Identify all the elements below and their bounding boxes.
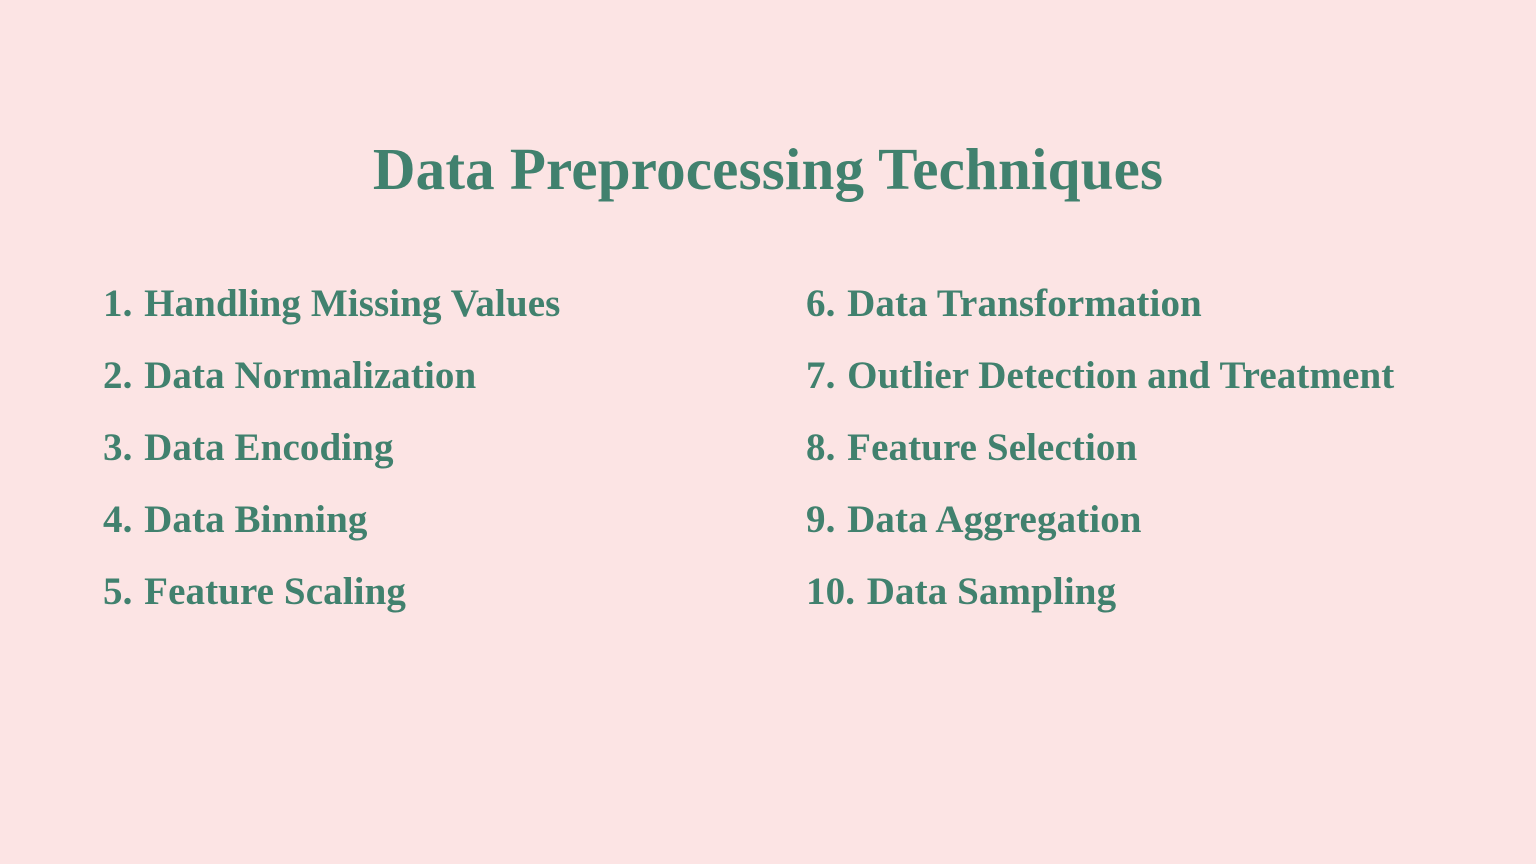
list-item-number: 9. <box>806 498 835 541</box>
technique-list: 1.Handling Missing Values 2.Data Normali… <box>0 281 1536 661</box>
list-item: 10.Data Sampling <box>806 569 1394 641</box>
list-item-label: Data Transformation <box>847 282 1202 325</box>
list-item: 9.Data Aggregation <box>806 497 1394 569</box>
list-item-number: 1. <box>103 282 132 325</box>
list-item-label: Feature Selection <box>847 426 1137 469</box>
list-item-label: Handling Missing Values <box>144 282 560 325</box>
list-item: 3.Data Encoding <box>103 425 560 497</box>
list-item-number: 5. <box>103 570 132 613</box>
list-item-label: Data Sampling <box>867 570 1116 613</box>
list-item: 5.Feature Scaling <box>103 569 560 641</box>
slide-canvas: Data Preprocessing Techniques 1.Handling… <box>0 0 1536 864</box>
list-item: 1.Handling Missing Values <box>103 281 560 353</box>
list-item: 4.Data Binning <box>103 497 560 569</box>
list-item-label: Data Encoding <box>144 426 393 469</box>
list-item: 7.Outlier Detection and Treatment <box>806 353 1394 425</box>
technique-column-right: 6.Data Transformation 7.Outlier Detectio… <box>806 281 1394 641</box>
list-item-label: Feature Scaling <box>144 570 406 613</box>
list-item-number: 10. <box>806 570 855 613</box>
list-item-number: 6. <box>806 282 835 325</box>
list-item: 8.Feature Selection <box>806 425 1394 497</box>
list-item-number: 7. <box>806 354 835 397</box>
list-item-label: Outlier Detection and Treatment <box>847 354 1394 397</box>
list-item: 6.Data Transformation <box>806 281 1394 353</box>
list-item-number: 4. <box>103 498 132 541</box>
list-item: 2.Data Normalization <box>103 353 560 425</box>
technique-column-left: 1.Handling Missing Values 2.Data Normali… <box>103 281 560 641</box>
list-item-number: 8. <box>806 426 835 469</box>
list-item-label: Data Binning <box>144 498 367 541</box>
list-item-number: 2. <box>103 354 132 397</box>
list-item-label: Data Aggregation <box>847 498 1141 541</box>
page-title: Data Preprocessing Techniques <box>0 140 1536 199</box>
list-item-number: 3. <box>103 426 132 469</box>
list-item-label: Data Normalization <box>144 354 476 397</box>
